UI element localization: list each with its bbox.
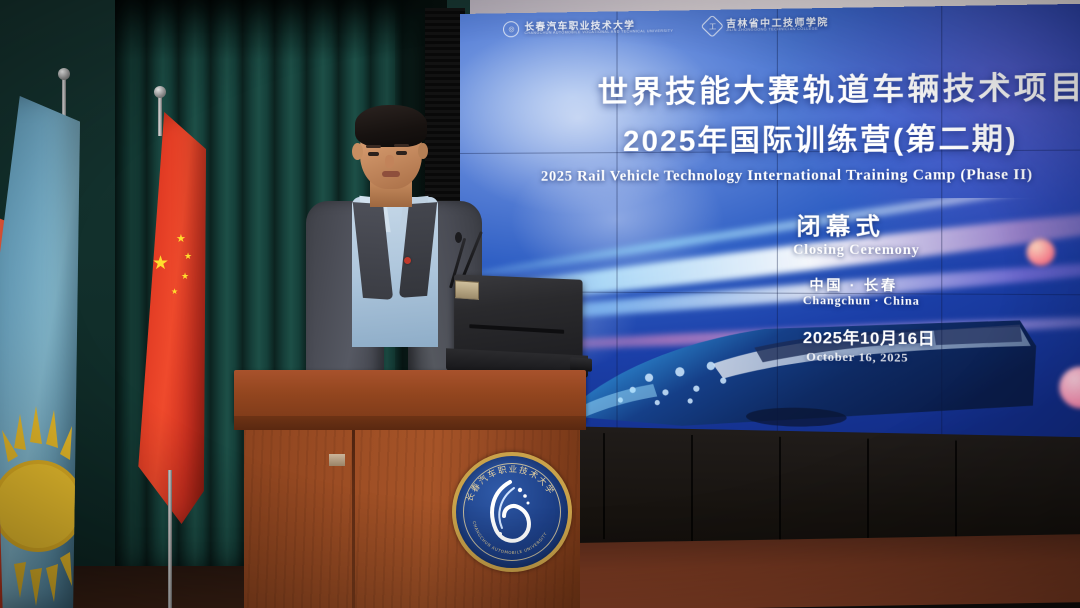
screen-logos: ◎ 长春汽车职业技术大学 CHANGCHUN AUTOMOBILE VOCATI… — [503, 17, 828, 38]
eye-right — [396, 151, 407, 155]
podium-emblem: 长春汽车职业技术大学 CHANGCHUN AUTOMOBILE UNIVERSI… — [452, 452, 572, 572]
screen-date-cn: 2025年10月16日 — [803, 323, 935, 349]
logo-2-en: JILIN ZHONGGONG TECHNICIAN COLLEGE — [726, 28, 829, 33]
podium-label-plate — [329, 454, 345, 466]
podium-top-face — [234, 416, 586, 430]
microphone-head — [455, 232, 462, 243]
mouth — [382, 171, 400, 177]
eyebrow-left — [366, 145, 381, 148]
screen-title-cn-line1: 世界技能大赛轨道车辆技术项目 — [598, 61, 1080, 111]
screen-title-en: 2025 Rail Vehicle Technology Internation… — [541, 167, 1033, 186]
screen-location-en: Changchun · China — [803, 295, 920, 308]
presentation-scene: ◎ 长春汽车职业技术大学 CHANGCHUN AUTOMOBILE VOCATI… — [0, 0, 1080, 608]
emblem-swirl-icon — [480, 478, 540, 546]
screen-title-cn-line2: 2025年国际训练营(第二期) — [623, 114, 1018, 160]
circle-emblem-icon: ◎ — [503, 21, 519, 37]
flag-kazakhstan — [0, 96, 80, 608]
eye-left — [368, 152, 379, 156]
ear-left — [352, 143, 363, 160]
flag-stand-china — [168, 470, 172, 608]
lapel-pin — [404, 257, 411, 264]
laptop-hinge-bar — [469, 324, 564, 334]
eyebrow-right — [394, 144, 409, 147]
podium-top-surface — [234, 370, 586, 422]
screen-date-en: October 16, 2025 — [806, 349, 908, 365]
screen-event-en: Closing Ceremony — [793, 241, 920, 258]
screen-event-cn: 闭幕式 — [796, 207, 885, 242]
hex-emblem-icon: 工 — [701, 15, 724, 38]
screen-location-cn: 中国 · 长春 — [809, 274, 897, 295]
flag-finial-kazakhstan — [58, 68, 70, 80]
laptop-name-tag — [455, 280, 479, 300]
flag-finial-china — [154, 86, 166, 98]
ear-right — [418, 143, 428, 159]
flag-pole-china — [158, 96, 162, 136]
hair — [355, 105, 427, 147]
nose — [385, 155, 394, 168]
podium-corner-edge — [352, 428, 355, 608]
kazakhstan-sun-icon — [0, 96, 80, 608]
logo-jilin-technician-college: 工 吉林省中工技师学院 JILIN ZHONGGONG TECHNICIAN C… — [704, 17, 829, 35]
logo-changchun-automobile: ◎ 长春汽车职业技术大学 CHANGCHUN AUTOMOBILE VOCATI… — [503, 19, 673, 38]
logo-1-en: CHANGCHUN AUTOMOBILE VOCATIONAL AND TECH… — [525, 30, 674, 36]
flag-pole-kazakhstan — [62, 78, 66, 120]
curtain-top-shadow — [115, 0, 435, 60]
